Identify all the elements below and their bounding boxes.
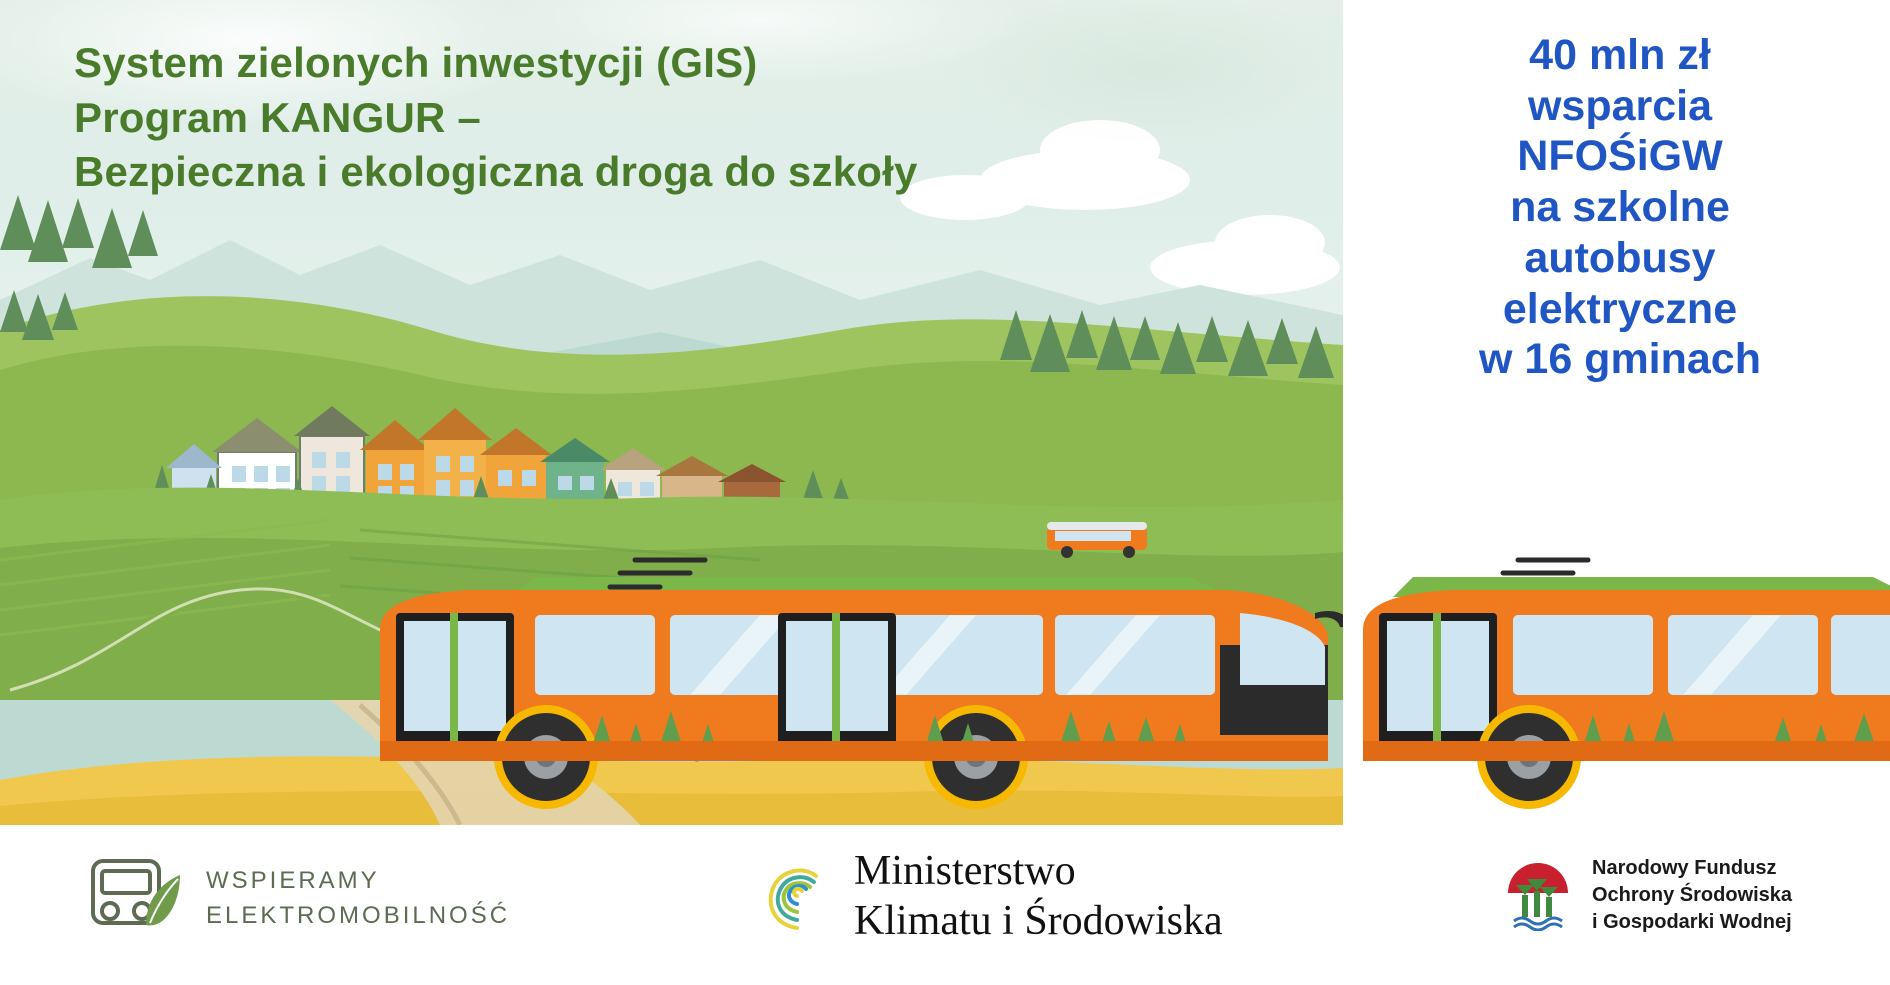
- logo-nfosigw-line1: Narodowy Fundusz: [1592, 855, 1792, 882]
- bus-leaf-icon: [88, 853, 184, 944]
- logo-ministry: Ministerstwo Klimatu i Środowiska: [760, 847, 1223, 946]
- logo-nfosigw: Narodowy Fundusz Ochrony Środowiska i Go…: [1500, 855, 1792, 936]
- highlight-prefix: w: [1479, 335, 1524, 383]
- electric-bus-secondary: [1353, 535, 1890, 825]
- logo-ministry-line1: Ministerstwo: [854, 847, 1223, 897]
- footer-logos: WSPIERAMY ELEKTROMOBILNOŚĆ Minister: [0, 825, 1890, 985]
- logo-ministry-line2: Klimatu i Środowiska: [854, 897, 1223, 947]
- headline-line-3: Bezpieczna i ekologiczna droga do szkoły: [74, 145, 1074, 200]
- highlight-line-5: autobusy: [1350, 233, 1890, 284]
- logo-nfosigw-text: Narodowy Fundusz Ochrony Środowiska i Go…: [1592, 855, 1792, 936]
- logo-electromobility: WSPIERAMY ELEKTROMOBILNOŚĆ: [88, 853, 510, 944]
- funding-highlight: 40 mln zł wsparcia NFOŚiGW na szkolne au…: [1350, 30, 1890, 385]
- highlight-municipalities: 16 gminach: [1524, 335, 1761, 383]
- logo-nfosigw-line3: i Gospodarki Wodnej: [1592, 909, 1792, 936]
- logo-electromobility-line2: ELEKTROMOBILNOŚĆ: [206, 899, 510, 934]
- nfosigw-shield-icon: [1500, 855, 1576, 936]
- highlight-line-3: NFOŚiGW: [1350, 131, 1890, 182]
- highlight-line-4: na szkolne: [1350, 182, 1890, 233]
- page-title: System zielonych inwestycji (GIS) Progra…: [74, 36, 1074, 200]
- headline-line-2: Program KANGUR –: [74, 91, 1074, 146]
- logo-electromobility-text: WSPIERAMY ELEKTROMOBILNOŚĆ: [206, 864, 510, 934]
- logo-ministry-text: Ministerstwo Klimatu i Środowiska: [854, 847, 1223, 946]
- highlight-amount: 40 mln: [1529, 31, 1665, 79]
- highlight-line-1: 40 mln zł: [1350, 30, 1890, 81]
- ministry-spiral-icon: [760, 854, 834, 939]
- logo-electromobility-line1: WSPIERAMY: [206, 864, 510, 899]
- highlight-line-2: wsparcia: [1350, 81, 1890, 132]
- electric-bus-main: [360, 535, 1343, 825]
- highlight-line-6: elektryczne: [1350, 284, 1890, 335]
- highlight-line-7: w 16 gminach: [1350, 334, 1890, 385]
- highlight-currency: zł: [1665, 31, 1710, 79]
- poster-banner: System zielonych inwestycji (GIS) Progra…: [0, 0, 1890, 985]
- highlight-institution: NFOŚiGW: [1517, 132, 1722, 180]
- logo-nfosigw-line2: Ochrony Środowiska: [1592, 882, 1792, 909]
- headline-line-1: System zielonych inwestycji (GIS): [74, 36, 1074, 91]
